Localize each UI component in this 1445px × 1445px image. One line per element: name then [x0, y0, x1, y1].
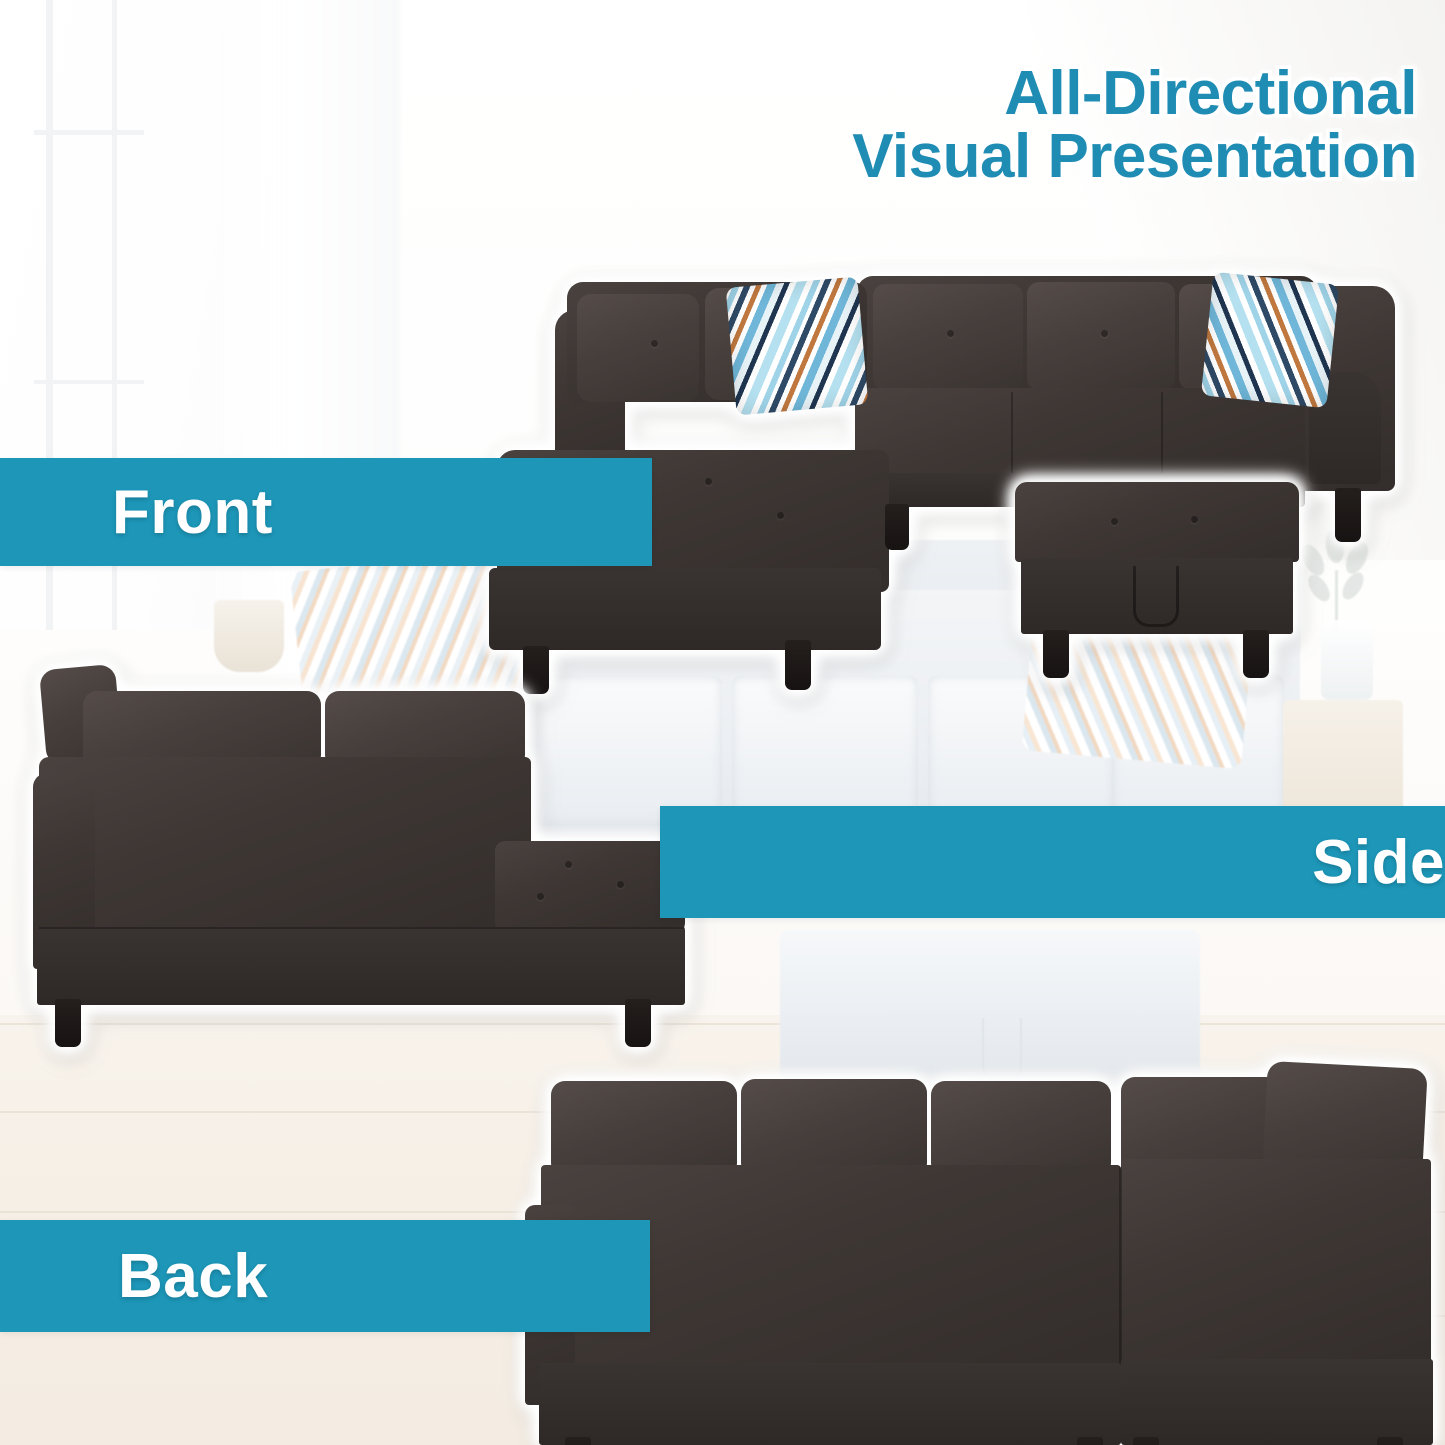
product-view-side [25, 665, 715, 1040]
banner-side: Side [660, 806, 1445, 918]
infographic-canvas: Front Side Back All-Directional Visual P… [0, 0, 1445, 1445]
banner-back: Back [0, 1220, 650, 1332]
background-planter [214, 600, 284, 672]
headline-line-2: Visual Presentation [852, 125, 1417, 188]
storage-ottoman [1005, 482, 1305, 682]
headline-line-1: All-Directional [852, 62, 1417, 125]
banner-side-label: Side [1312, 827, 1445, 898]
accent-pillow-right [1201, 272, 1339, 408]
page-title: All-Directional Visual Presentation [852, 62, 1417, 188]
banner-back-label: Back [118, 1241, 268, 1312]
banner-front: Front [0, 458, 652, 566]
product-view-back [525, 1055, 1420, 1440]
banner-front-label: Front [112, 477, 273, 548]
side-table [1283, 700, 1403, 820]
accent-pillow-left [726, 276, 869, 415]
